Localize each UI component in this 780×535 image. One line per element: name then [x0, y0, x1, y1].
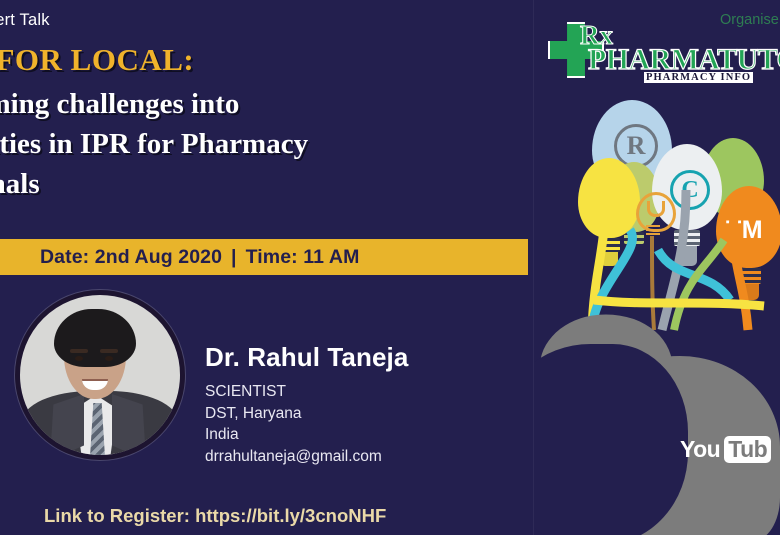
headline-white-line-1: nsforming challenges into [0, 84, 522, 124]
left-content-panel: a Expert Talk CAL FOR LOCAL: nsforming c… [0, 0, 533, 535]
headline-white: nsforming challenges into ortunities in … [0, 84, 522, 204]
avatar-brow-left [70, 349, 88, 353]
head-negative-space [533, 344, 688, 535]
youtube-logo: You Tub [680, 436, 771, 463]
time-label: Time: 11 AM [246, 246, 360, 268]
avatar-hair [54, 309, 136, 367]
headline-white-line-3: fessionals [0, 164, 522, 204]
webinar-poster: a Expert Talk CAL FOR LOCAL: nsforming c… [0, 0, 780, 535]
date-time-separator: | [231, 246, 237, 268]
avatar-eye-left [75, 356, 83, 361]
avatar-eye-right [105, 356, 113, 361]
right-artwork-panel: Rx PHARMATUTO PHARMACY INFO Organise R [533, 0, 780, 535]
date-time-text: Date: 2nd Aug 2020|Time: 11 AM [40, 246, 359, 269]
speaker-organisation: DST, Haryana [205, 403, 382, 425]
kicker-text: a Expert Talk [0, 11, 212, 30]
youtube-you-text: You [680, 436, 720, 463]
head-silhouette [533, 300, 780, 535]
register-link[interactable]: Link to Register: https://bit.ly/3cnoNHF [44, 505, 386, 527]
date-time-band: Date: 2nd Aug 2020|Time: 11 AM [0, 239, 528, 275]
speaker-country: India [205, 424, 382, 446]
speaker-name: Dr. Rahul Taneja [205, 342, 408, 373]
headline-white-line-2: ortunities in IPR for Pharmacy [0, 124, 522, 164]
headline-gold: CAL FOR LOCAL: [0, 42, 342, 78]
speaker-designation: SCIENTIST [205, 381, 382, 403]
youtube-tube-text: Tub [724, 436, 771, 463]
avatar-brow-right [100, 349, 118, 353]
speaker-avatar [15, 290, 185, 460]
date-label: Date: 2nd Aug 2020 [40, 246, 222, 268]
speaker-email: drrahultaneja@gmail.com [205, 446, 382, 468]
speaker-details: SCIENTIST DST, Haryana India drrahultane… [205, 381, 382, 467]
